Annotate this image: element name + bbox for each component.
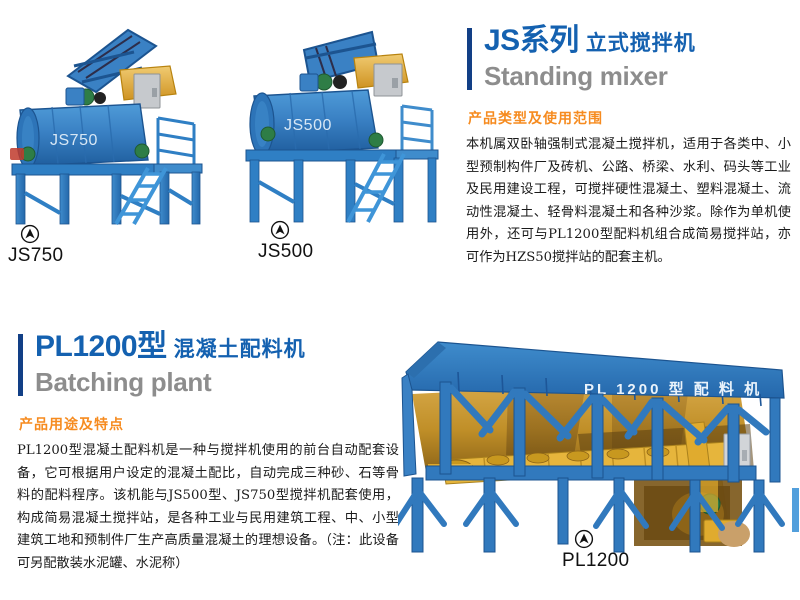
product-image-js750: JS750 [8,18,223,228]
pl1200-hopper-text: PL 1200 型 配 料 机 [584,380,762,398]
heading-english-js: Standing mixer [484,63,696,89]
product-brochure-page: JS750 [0,0,800,600]
caption-js750-label: JS750 [8,245,63,267]
up-arrow-circle-icon [270,220,290,240]
heading-model-pl: PL1200型 [35,330,167,363]
heading-english-pl: Batching plant [35,369,306,395]
heading-accent-bar [467,28,472,90]
caption-pl1200-label: PL1200 [562,550,629,572]
caption-js500: JS500 [258,220,313,263]
body-text-pl1200: PL1200型混凝土配料机是一种与搅拌机使用的前台自动配套设备，它可根据用户设定… [17,440,399,576]
caption-js500-label: JS500 [258,241,313,263]
section-pl1200: PL1200型混凝土配料机 Batching plant 产品用途及特点 PL1… [0,310,800,600]
product-image-js500: JS500 [236,20,441,225]
body-text-js-series: 本机属双卧轴强制式混凝土搅拌机，适用于各类中、小型预制构件厂及砖机、公路、桥梁、… [466,134,791,270]
js750-illustration: JS750 [8,18,223,228]
caption-pl1200: PL1200 [562,529,629,572]
heading-chinese-js: 立式搅拌机 [586,32,696,55]
section-js-series: JS750 [0,0,800,310]
js500-illustration: JS500 [236,20,441,225]
heading-model-js: JS系列 [484,24,579,57]
heading-chinese-pl: 混凝土配料机 [174,338,306,361]
subheading-js-series: 产品类型及使用范围 [468,108,603,128]
caption-js750: JS750 [8,224,63,267]
js750-drum-text: JS750 [50,132,98,149]
up-arrow-circle-icon [20,224,40,244]
subheading-pl1200: 产品用途及特点 [19,414,124,434]
js500-drum-text: JS500 [284,117,332,134]
heading-accent-bar [18,334,23,396]
up-arrow-circle-icon [574,529,594,549]
